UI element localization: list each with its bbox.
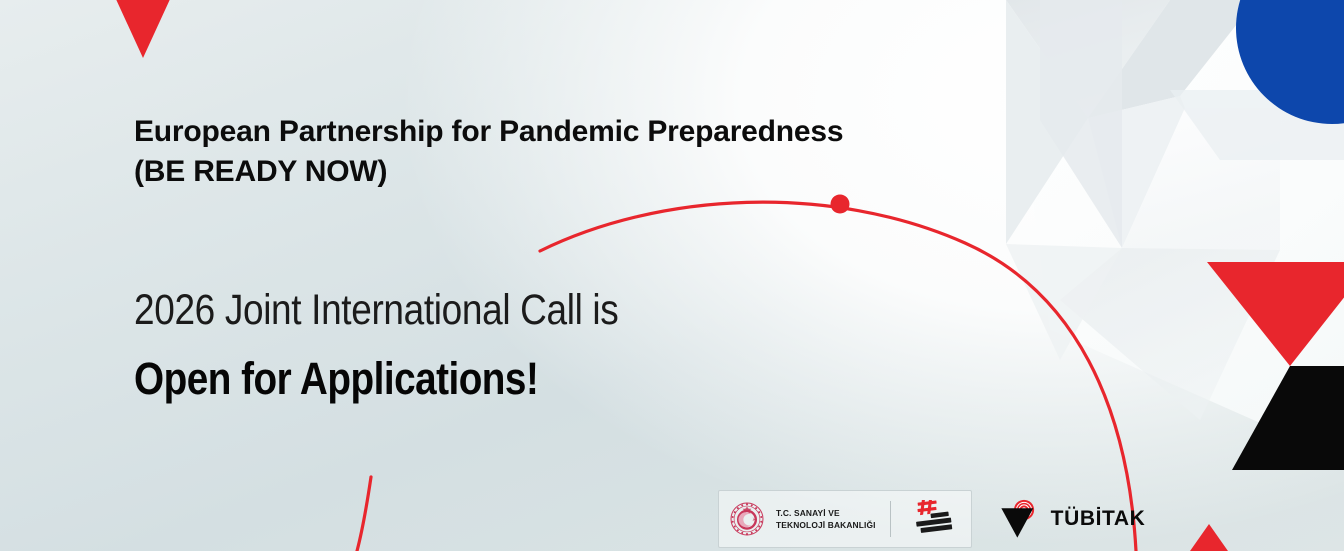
subtitle-block: 2026 Joint International Call is Open fo…: [134, 289, 697, 401]
tubitak-logo: TÜBİTAK: [998, 499, 1146, 539]
turkish-ministry-emblem-icon: [730, 502, 764, 536]
tubitak-name-label: TÜBİTAK: [1051, 507, 1146, 531]
arc-marker-dot: [831, 195, 850, 214]
milli-teknoloji-hamlesi-icon: [905, 500, 959, 538]
logo-divider: [890, 501, 891, 537]
red-triangle-top-left: [98, 0, 188, 58]
tubitak-logo-icon: [998, 499, 1040, 539]
ministry-name-label: T.C. SANAYİ VE TEKNOLOJİ BAKANLIĞI: [776, 507, 876, 531]
headline-block: European Partnership for Pandemic Prepar…: [134, 112, 1034, 192]
subtitle-line-2: Open for Applications!: [134, 356, 618, 401]
decorative-shapes-layer: [0, 0, 1344, 551]
ministry-logo: T.C. SANAYİ VE TEKNOLOJİ BAKANLIĞI: [718, 490, 972, 548]
logo-strip: T.C. SANAYİ VE TEKNOLOJİ BAKANLIĞI: [718, 490, 1145, 548]
page-title: European Partnership for Pandemic Prepar…: [134, 112, 1034, 192]
banner-root: European Partnership for Pandemic Prepar…: [0, 0, 1344, 551]
red-arc-lower-left: [357, 477, 371, 551]
subtitle-line-1: 2026 Joint International Call is: [134, 289, 618, 332]
red-triangle-bottom-right: [1150, 524, 1268, 551]
